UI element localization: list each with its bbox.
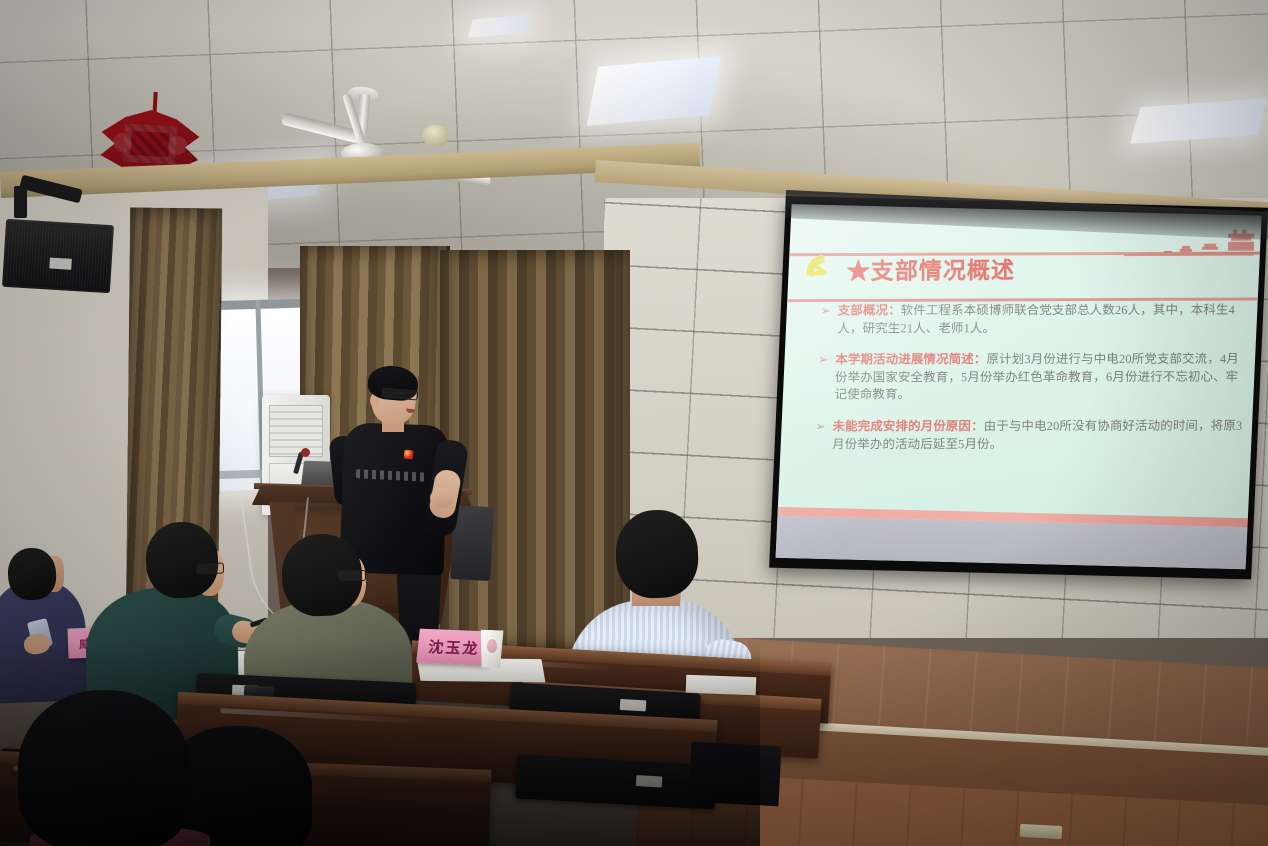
projection-screen: ★支部情况概述 <box>769 196 1268 579</box>
bullet-heading: 支部概况 <box>838 303 889 317</box>
slide-title: ★支部情况概述 <box>847 251 1016 286</box>
curtain <box>440 250 630 650</box>
hammer-and-sickle-icon <box>801 250 837 284</box>
person-head <box>614 509 699 600</box>
speaker-badge <box>49 258 72 270</box>
presentation-slide: ★支部情况概述 <box>776 204 1262 569</box>
bullet-text: 本学期活动进展情况简述：原计划3月份进行与中电20所党支部交流，4月份举办国家安… <box>834 351 1248 404</box>
bullet-heading: 未能完成安排的月份原因 <box>832 419 971 433</box>
bullet-separator: ： <box>974 352 987 366</box>
desk-front-panel <box>688 742 781 807</box>
tiananmen-skyline-icon <box>1124 228 1255 272</box>
party-emblem-pin-icon <box>404 450 414 460</box>
bullet-text: 支部概况：软件工程系本硕博师联合党支部总人数26人，其中，本科生4人，研究生21… <box>837 302 1251 338</box>
slide-body: ➢ 支部概况：软件工程系本硕博师联合党支部总人数26人，其中，本科生4人，研究生… <box>814 297 1251 472</box>
slide-bullet: ➢ 支部概况：软件工程系本硕博师联合党支部总人数26人，其中，本科生4人，研究生… <box>820 302 1251 338</box>
person-glasses <box>196 563 224 575</box>
ac-grille <box>269 405 323 457</box>
bullet-text: 未能完成安排的月份原因：由于与中电20所没有协商好活动的时间，将原3月份举办的活… <box>832 417 1246 453</box>
meeting-room-scene: ★支部情况概述 <box>0 0 1268 846</box>
bullet-separator: ： <box>888 303 901 317</box>
bullet-heading: 本学期活动进展情况简述 <box>835 352 974 366</box>
name-card-text: 沈玉龙 <box>427 636 480 659</box>
slide-bullet: ➢ 本学期活动进展情况简述：原计划3月份进行与中电20所党支部交流，4月份举办国… <box>817 351 1248 404</box>
seat-number-label <box>620 699 647 712</box>
speaker-mount-bracket <box>14 186 27 218</box>
person-head <box>18 690 190 846</box>
floor-outlet <box>1020 824 1063 839</box>
slide-bullet: ➢ 未能完成安排的月份原因：由于与中电20所没有协商好活动的时间，将原3月份举办… <box>815 417 1246 453</box>
chinese-knot-weave <box>123 124 177 165</box>
bullet-separator: ： <box>971 419 984 433</box>
bullet-arrow-icon: ➢ <box>815 418 826 453</box>
bullet-arrow-icon: ➢ <box>820 302 831 337</box>
paper-sheet <box>686 675 757 695</box>
person-glasses <box>338 570 366 581</box>
microphone-head-icon <box>301 448 310 457</box>
presenter-hand <box>430 488 454 508</box>
name-card-front: 沈玉龙 <box>416 629 492 666</box>
seat-number-label <box>636 775 663 787</box>
wall-speaker <box>2 219 114 293</box>
bullet-arrow-icon: ➢ <box>817 351 828 403</box>
